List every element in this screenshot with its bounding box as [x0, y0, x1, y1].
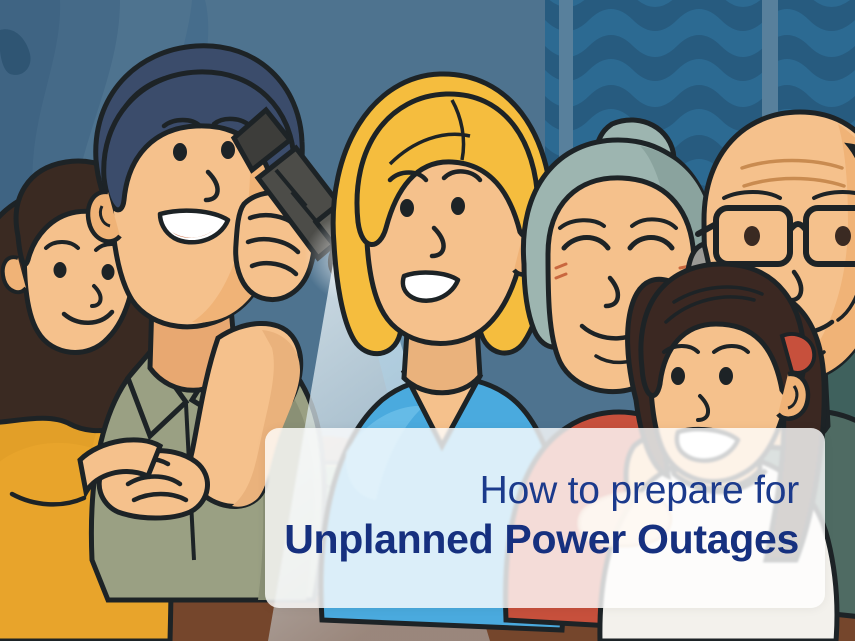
- banner-image: How to prepare for Unplanned Power Outag…: [0, 0, 855, 641]
- grandpa-eye-right: [835, 226, 851, 246]
- girl-yellow-eye-right: [102, 264, 115, 280]
- child-eye-right: [719, 367, 733, 385]
- title-line-2: Unplanned Power Outages: [284, 517, 799, 561]
- grandpa-eye-left: [744, 226, 760, 246]
- title-line-1: How to prepare for: [480, 470, 799, 512]
- title-card: How to prepare for Unplanned Power Outag…: [265, 428, 825, 608]
- man-eye-left: [173, 143, 187, 161]
- woman-eye-left: [400, 199, 414, 217]
- woman-eye-right: [451, 197, 465, 215]
- man-eye-right: [221, 141, 235, 159]
- child-eye-left: [671, 367, 685, 385]
- girl-yellow-eye-left: [54, 262, 67, 278]
